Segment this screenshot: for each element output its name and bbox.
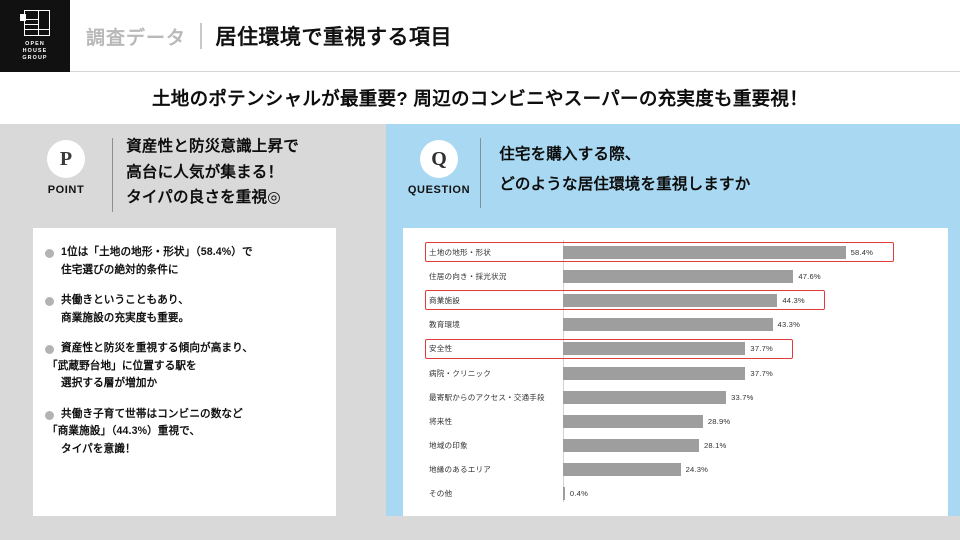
chart-row-label: 安全性	[417, 343, 563, 354]
bullet-dot-icon	[45, 411, 54, 420]
list-item-line: 共働き子育て世帯はコンビニの数など	[61, 406, 243, 424]
chart-row: 将来性28.9%	[417, 409, 934, 433]
logo: OPEN HOUSE GROUP	[0, 0, 70, 72]
list-item-line: 「武蔵野台地」に位置する駅を	[47, 358, 253, 376]
chart-row: 住居の向き・採光状況47.6%	[417, 264, 934, 288]
chart-bar-value: 33.7%	[731, 393, 754, 402]
list-item-line: 共働きということもあり、	[61, 292, 189, 310]
chart-bar	[563, 294, 777, 307]
list-item: 1位は「土地の地形・形状」（58.4%）で住宅選びの絶対的条件に	[45, 244, 322, 279]
list-item-line: 資産性と防災を重視する傾向が高まり、	[61, 340, 253, 358]
chart-bar-value: 44.3%	[782, 296, 805, 305]
question-heading: 住宅を購入する際、 どのような居住環境を重視しますか	[481, 134, 750, 200]
chart-bar-zone: 28.1%	[563, 434, 934, 458]
chart-bar-value: 37.7%	[750, 369, 773, 378]
list-item-line: 商業施設の充実度も重要。	[61, 310, 189, 328]
chart-bar-zone: 43.3%	[563, 313, 934, 337]
list-item: 共働き子育て世帯はコンビニの数など「商業施設」（44.3%）重視で、タイパを意識…	[45, 406, 322, 459]
chart-bar-value: 28.9%	[708, 417, 731, 426]
chart-bar-value: 28.1%	[704, 441, 727, 450]
chart-bar	[563, 367, 745, 380]
logo-line-3: GROUP	[22, 55, 47, 62]
chart-bar-zone: 24.3%	[563, 458, 934, 482]
bullet-dot-icon	[45, 297, 54, 306]
question-heading-line-2: どのような居住環境を重視しますか	[499, 170, 750, 200]
chart-bar-value: 43.3%	[778, 320, 801, 329]
chart-bar	[563, 342, 745, 355]
chart-bar-zone: 37.7%	[563, 337, 934, 361]
chart-row: 教育環境43.3%	[417, 313, 934, 337]
chart-bar-value: 24.3%	[686, 465, 709, 474]
header-divider	[200, 23, 202, 49]
bullet-dot-icon	[45, 249, 54, 258]
chart-card: 土地の地形・形状58.4%住居の向き・採光状況47.6%商業施設44.3%教育環…	[403, 228, 948, 516]
chart-row: 商業施設44.3%	[417, 288, 934, 312]
chart-bar-zone: 37.7%	[563, 361, 934, 385]
header: OPEN HOUSE GROUP 調査データ 居住環境で重視する項目	[0, 0, 960, 72]
chart-row-label: 教育環境	[417, 319, 563, 330]
logo-line-2: HOUSE	[22, 48, 47, 55]
slide-root: OPEN HOUSE GROUP 調査データ 居住環境で重視する項目 土地のポテ…	[0, 0, 960, 540]
question-heading-line-1: 住宅を購入する際、	[499, 140, 750, 170]
chart-row: 安全性37.7%	[417, 337, 934, 361]
chart-bar	[563, 391, 726, 404]
logo-line-1: OPEN	[22, 41, 47, 48]
chart-row: 病院・クリニック37.7%	[417, 361, 934, 385]
point-heading-line-1: 資産性と防災意識上昇で	[126, 134, 299, 160]
open-house-building-icon	[20, 10, 50, 38]
list-item-line: 選択する層が増加か	[61, 375, 253, 393]
chart-row-label: 最寄駅からのアクセス・交通手段	[417, 392, 563, 403]
chart-row: 最寄駅からのアクセス・交通手段33.7%	[417, 385, 934, 409]
subtitle-band: 土地のポテンシャルが最重要? 周辺のコンビニやスーパーの充実度も重要視！	[0, 72, 960, 124]
chart-bar-value: 0.4%	[570, 489, 588, 498]
chart-row-label: 地縁のあるエリア	[417, 464, 563, 475]
chart-row-label: 土地の地形・形状	[417, 247, 563, 258]
list-item-text: 共働き子育て世帯はコンビニの数など「商業施設」（44.3%）重視で、タイパを意識…	[54, 406, 243, 459]
subtitle-text: 土地のポテンシャルが最重要? 周辺のコンビニやスーパーの充実度も重要視！	[152, 85, 808, 111]
chart-row: 土地の地形・形状58.4%	[417, 240, 934, 264]
point-bullet-card: 1位は「土地の地形・形状」（58.4%）で住宅選びの絶対的条件に共働きということ…	[33, 228, 336, 516]
chart-row-label: 住居の向き・採光状況	[417, 271, 563, 282]
logo-text: OPEN HOUSE GROUP	[22, 41, 47, 61]
chart-bar	[563, 318, 773, 331]
list-item-line: 1位は「土地の地形・形状」（58.4%）で	[61, 244, 253, 262]
list-item-text: 共働きということもあり、商業施設の充実度も重要。	[54, 292, 189, 327]
bullet-dot-icon	[45, 345, 54, 354]
chart-row-label: その他	[417, 488, 563, 499]
chart-bar-value: 37.7%	[750, 344, 773, 353]
list-item-text: 1位は「土地の地形・形状」（58.4%）で住宅選びの絶対的条件に	[54, 244, 253, 279]
point-heading: 資産性と防災意識上昇で 高台に人気が集まる！ タイパの良さを重視◎	[113, 134, 299, 211]
point-heading-line-3: タイパの良さを重視◎	[126, 185, 299, 211]
chart-bar	[563, 487, 565, 500]
chart-bar-zone: 33.7%	[563, 385, 934, 409]
list-item-line: 「商業施設」（44.3%）重視で、	[47, 423, 243, 441]
question-divider	[480, 138, 481, 208]
chart-bar	[563, 439, 699, 452]
chart-bar-zone: 0.4%	[563, 482, 934, 506]
list-item: 資産性と防災を重視する傾向が高まり、「武蔵野台地」に位置する駅を選択する層が増加…	[45, 340, 322, 393]
chart: 土地の地形・形状58.4%住居の向き・採光状況47.6%商業施設44.3%教育環…	[403, 228, 948, 516]
chart-bar-value: 58.4%	[851, 248, 874, 257]
chart-bar	[563, 270, 793, 283]
chart-row: 地域の印象28.1%	[417, 434, 934, 458]
point-badge-group: P POINT	[20, 134, 112, 196]
chart-row-label: 地域の印象	[417, 440, 563, 451]
list-item: 共働きということもあり、商業施設の充実度も重要。	[45, 292, 322, 327]
question-header: Q QUESTION 住宅を購入する際、 どのような居住環境を重視しますか	[398, 134, 918, 220]
header-title-group: 調査データ 居住環境で重視する項目	[86, 0, 452, 72]
footer-band	[0, 516, 960, 540]
chart-row-label: 病院・クリニック	[417, 368, 563, 379]
list-item-line: 住宅選びの絶対的条件に	[61, 262, 253, 280]
point-badge-label: POINT	[48, 184, 85, 196]
chart-row-label: 将来性	[417, 416, 563, 427]
chart-rows: 土地の地形・形状58.4%住居の向き・採光状況47.6%商業施設44.3%教育環…	[417, 240, 934, 506]
point-heading-line-2: 高台に人気が集まる！	[126, 160, 299, 186]
chart-bar-value: 47.6%	[798, 272, 821, 281]
point-badge: P	[47, 140, 85, 178]
chart-bar-zone: 58.4%	[563, 240, 934, 264]
question-badge-group: Q QUESTION	[398, 134, 480, 196]
bullet-list: 1位は「土地の地形・形状」（58.4%）で住宅選びの絶対的条件に共働きということ…	[33, 228, 336, 481]
chart-bar	[563, 415, 703, 428]
list-item-line: タイパを意識！	[61, 441, 243, 459]
chart-bar-zone: 28.9%	[563, 409, 934, 433]
question-badge-label: QUESTION	[408, 184, 470, 196]
chart-row: その他0.4%	[417, 482, 934, 506]
list-item-text: 資産性と防災を重視する傾向が高まり、「武蔵野台地」に位置する駅を選択する層が増加…	[54, 340, 253, 393]
chart-bar-zone: 44.3%	[563, 288, 934, 312]
point-header: P POINT 資産性と防災意識上昇で 高台に人気が集まる！ タイパの良さを重視…	[20, 134, 380, 220]
chart-row: 地縁のあるエリア24.3%	[417, 458, 934, 482]
question-badge: Q	[420, 140, 458, 178]
page-title: 居住環境で重視する項目	[216, 21, 453, 51]
chart-bar	[563, 463, 681, 476]
header-kicker: 調査データ	[86, 23, 186, 50]
chart-row-label: 商業施設	[417, 295, 563, 306]
chart-bar-zone: 47.6%	[563, 264, 934, 288]
chart-bar	[563, 246, 846, 259]
